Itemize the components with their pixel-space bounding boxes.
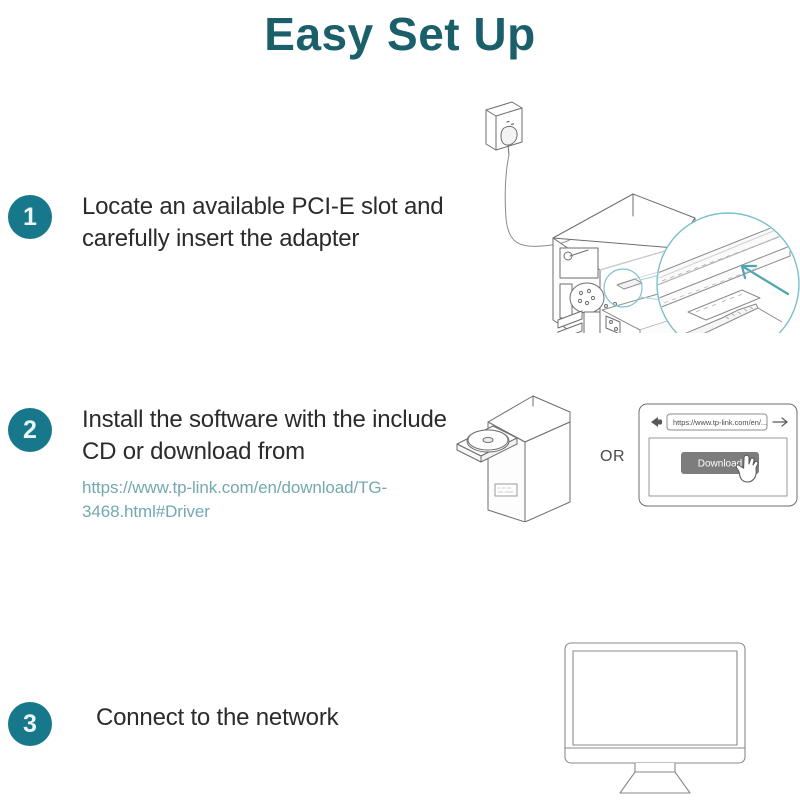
pc-tower-pci-slot-illustration bbox=[470, 98, 800, 333]
monitor-stand-neck bbox=[635, 763, 675, 772]
page-root: Easy Set Up 1 Locate an available PCI-E … bbox=[0, 0, 800, 800]
monitor-illustration bbox=[540, 630, 770, 800]
cd-drive-and-browser-illustration: https://www.tp-link.com/en/... Download bbox=[455, 392, 800, 522]
wall-outlet-icon bbox=[486, 102, 522, 155]
browser-url-text: https://www.tp-link.com/en/... bbox=[673, 418, 767, 427]
step-text-2: Install the software with the include CD… bbox=[82, 404, 462, 468]
step-number-badge-1: 1 bbox=[8, 195, 52, 239]
download-link[interactable]: https://www.tp-link.com/en/download/TG-3… bbox=[82, 476, 392, 524]
download-button-label: Download bbox=[698, 459, 742, 470]
monitor-stand-base bbox=[620, 772, 690, 793]
browser-window-mockup: https://www.tp-link.com/en/... Download bbox=[639, 404, 797, 506]
step-number-badge-3: 3 bbox=[8, 702, 52, 746]
step-body-1: Locate an available PCI-E slot and caref… bbox=[82, 191, 462, 255]
or-label: OR bbox=[600, 448, 625, 466]
step-body-2: Install the software with the include CD… bbox=[82, 404, 462, 524]
step-text-1: Locate an available PCI-E slot and caref… bbox=[82, 191, 462, 255]
step-body-3: Connect to the network bbox=[96, 702, 476, 734]
step-text-3: Connect to the network bbox=[96, 702, 476, 734]
step-number-badge-2: 2 bbox=[8, 408, 52, 452]
monitor-screen bbox=[573, 651, 737, 745]
page-title: Easy Set Up bbox=[0, 4, 800, 64]
pc-tower-cd-tray-icon bbox=[457, 396, 570, 522]
